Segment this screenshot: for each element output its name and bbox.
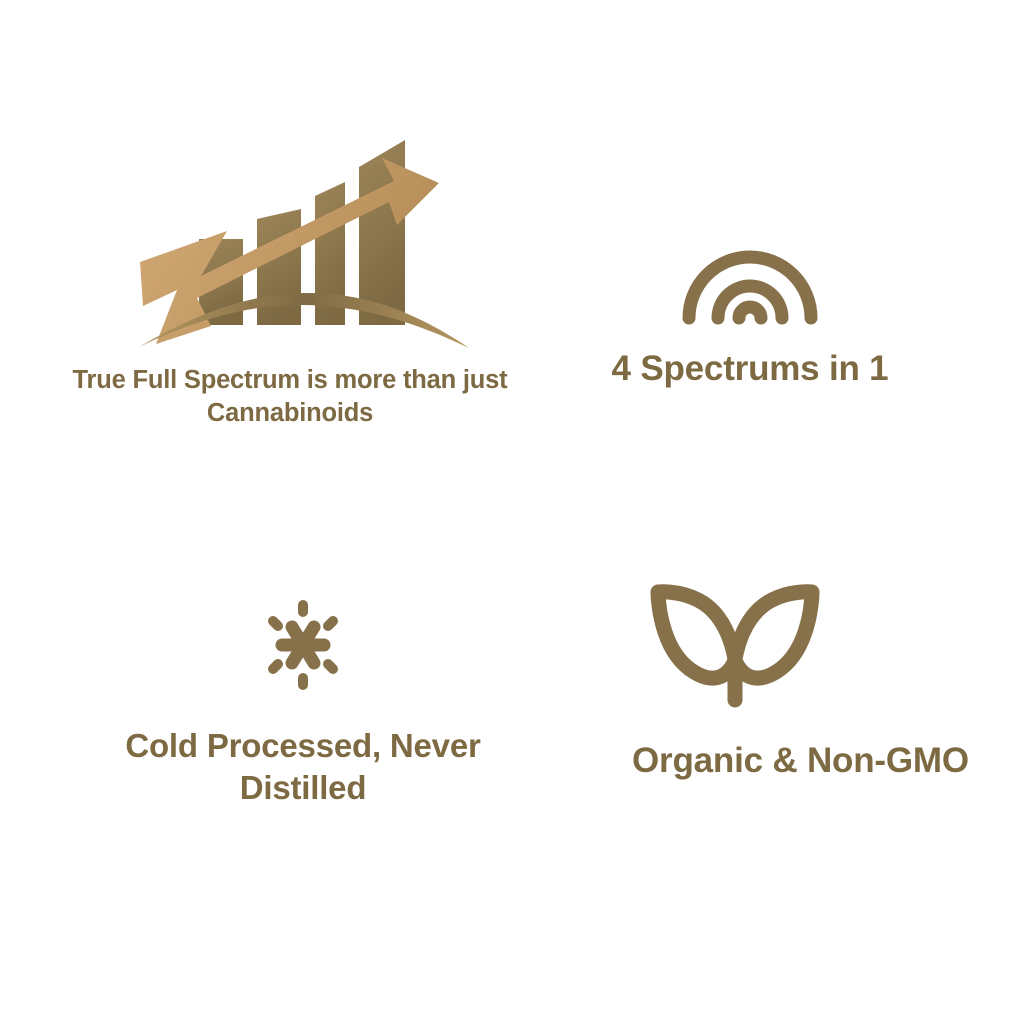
sprout-leaves-icon [646, 580, 824, 710]
snowflake-asterisk-icon [253, 595, 353, 695]
badge-cold-processed: Cold Processed, Never Distilled [118, 595, 488, 809]
rainbow-arcs-icon [676, 240, 824, 326]
badge-organic: Organic & Non-GMO [560, 580, 990, 784]
badge-caption-organic: Organic & Non-GMO [560, 738, 990, 784]
badge-full-spectrum: True Full Spectrum is more than just Can… [40, 140, 540, 429]
rising-bar-chart-arrow-icon [139, 140, 469, 350]
badge-caption-cold-processed: Cold Processed, Never Distilled [118, 725, 488, 809]
feature-badge-grid: True Full Spectrum is more than just Can… [0, 0, 1024, 1024]
badge-four-spectrums: 4 Spectrums in 1 [540, 240, 960, 390]
badge-caption-four-spectrums: 4 Spectrums in 1 [540, 348, 960, 390]
badge-caption-full-spectrum: True Full Spectrum is more than just Can… [55, 364, 525, 429]
